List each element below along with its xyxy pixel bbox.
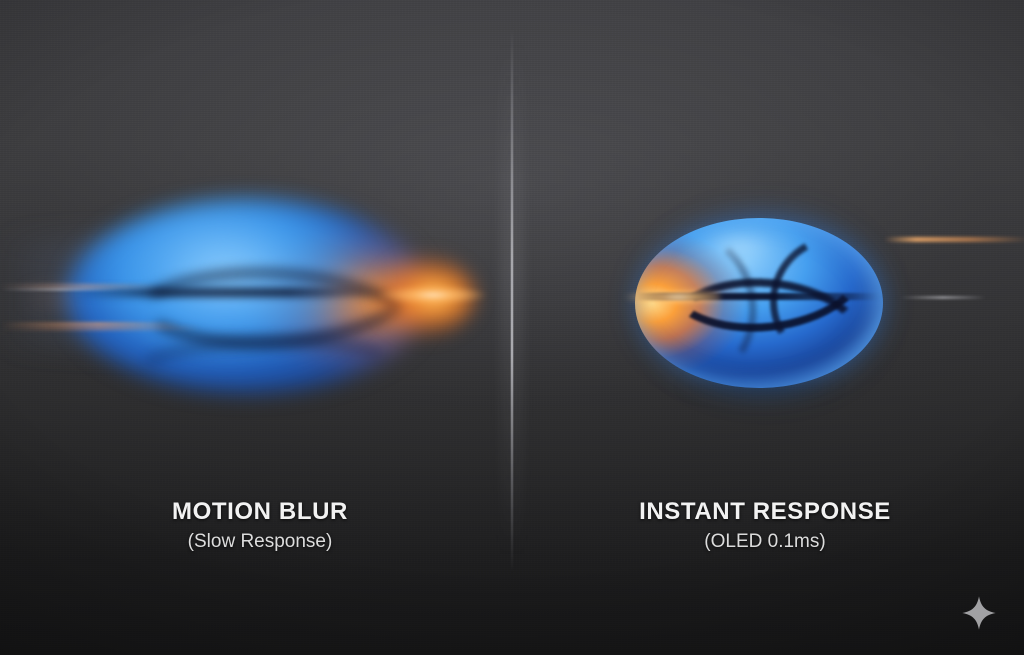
caption-left-title: MOTION BLUR: [40, 498, 480, 526]
ball-specular-highlight: [680, 229, 810, 273]
lens-flare-left-upper: [0, 288, 120, 291]
center-divider-line: [511, 28, 513, 573]
lens-flare-right-upper: [884, 237, 1024, 242]
caption-left-subtitle: (Slow Response): [40, 531, 480, 553]
lens-flare-left-lower: [0, 322, 180, 326]
caption-right-subtitle: (OLED 0.1ms): [545, 531, 985, 553]
comparison-scene: MOTION BLUR (Slow Response) INSTANT RESP…: [0, 0, 1024, 655]
caption-right-title: INSTANT RESPONSE: [545, 498, 985, 526]
caption-right: INSTANT RESPONSE (OLED 0.1ms): [545, 498, 985, 552]
basketball-sharp: [620, 205, 900, 400]
lens-flare-right-lower: [900, 296, 986, 299]
caption-left: MOTION BLUR (Slow Response): [40, 498, 480, 552]
basketball-motion-blurred: [58, 188, 438, 403]
ball-hotspot: [610, 289, 720, 305]
sparkle-icon: [958, 592, 1000, 634]
ball-hotspot: [378, 286, 488, 304]
blur-streak-lower: [0, 326, 200, 330]
